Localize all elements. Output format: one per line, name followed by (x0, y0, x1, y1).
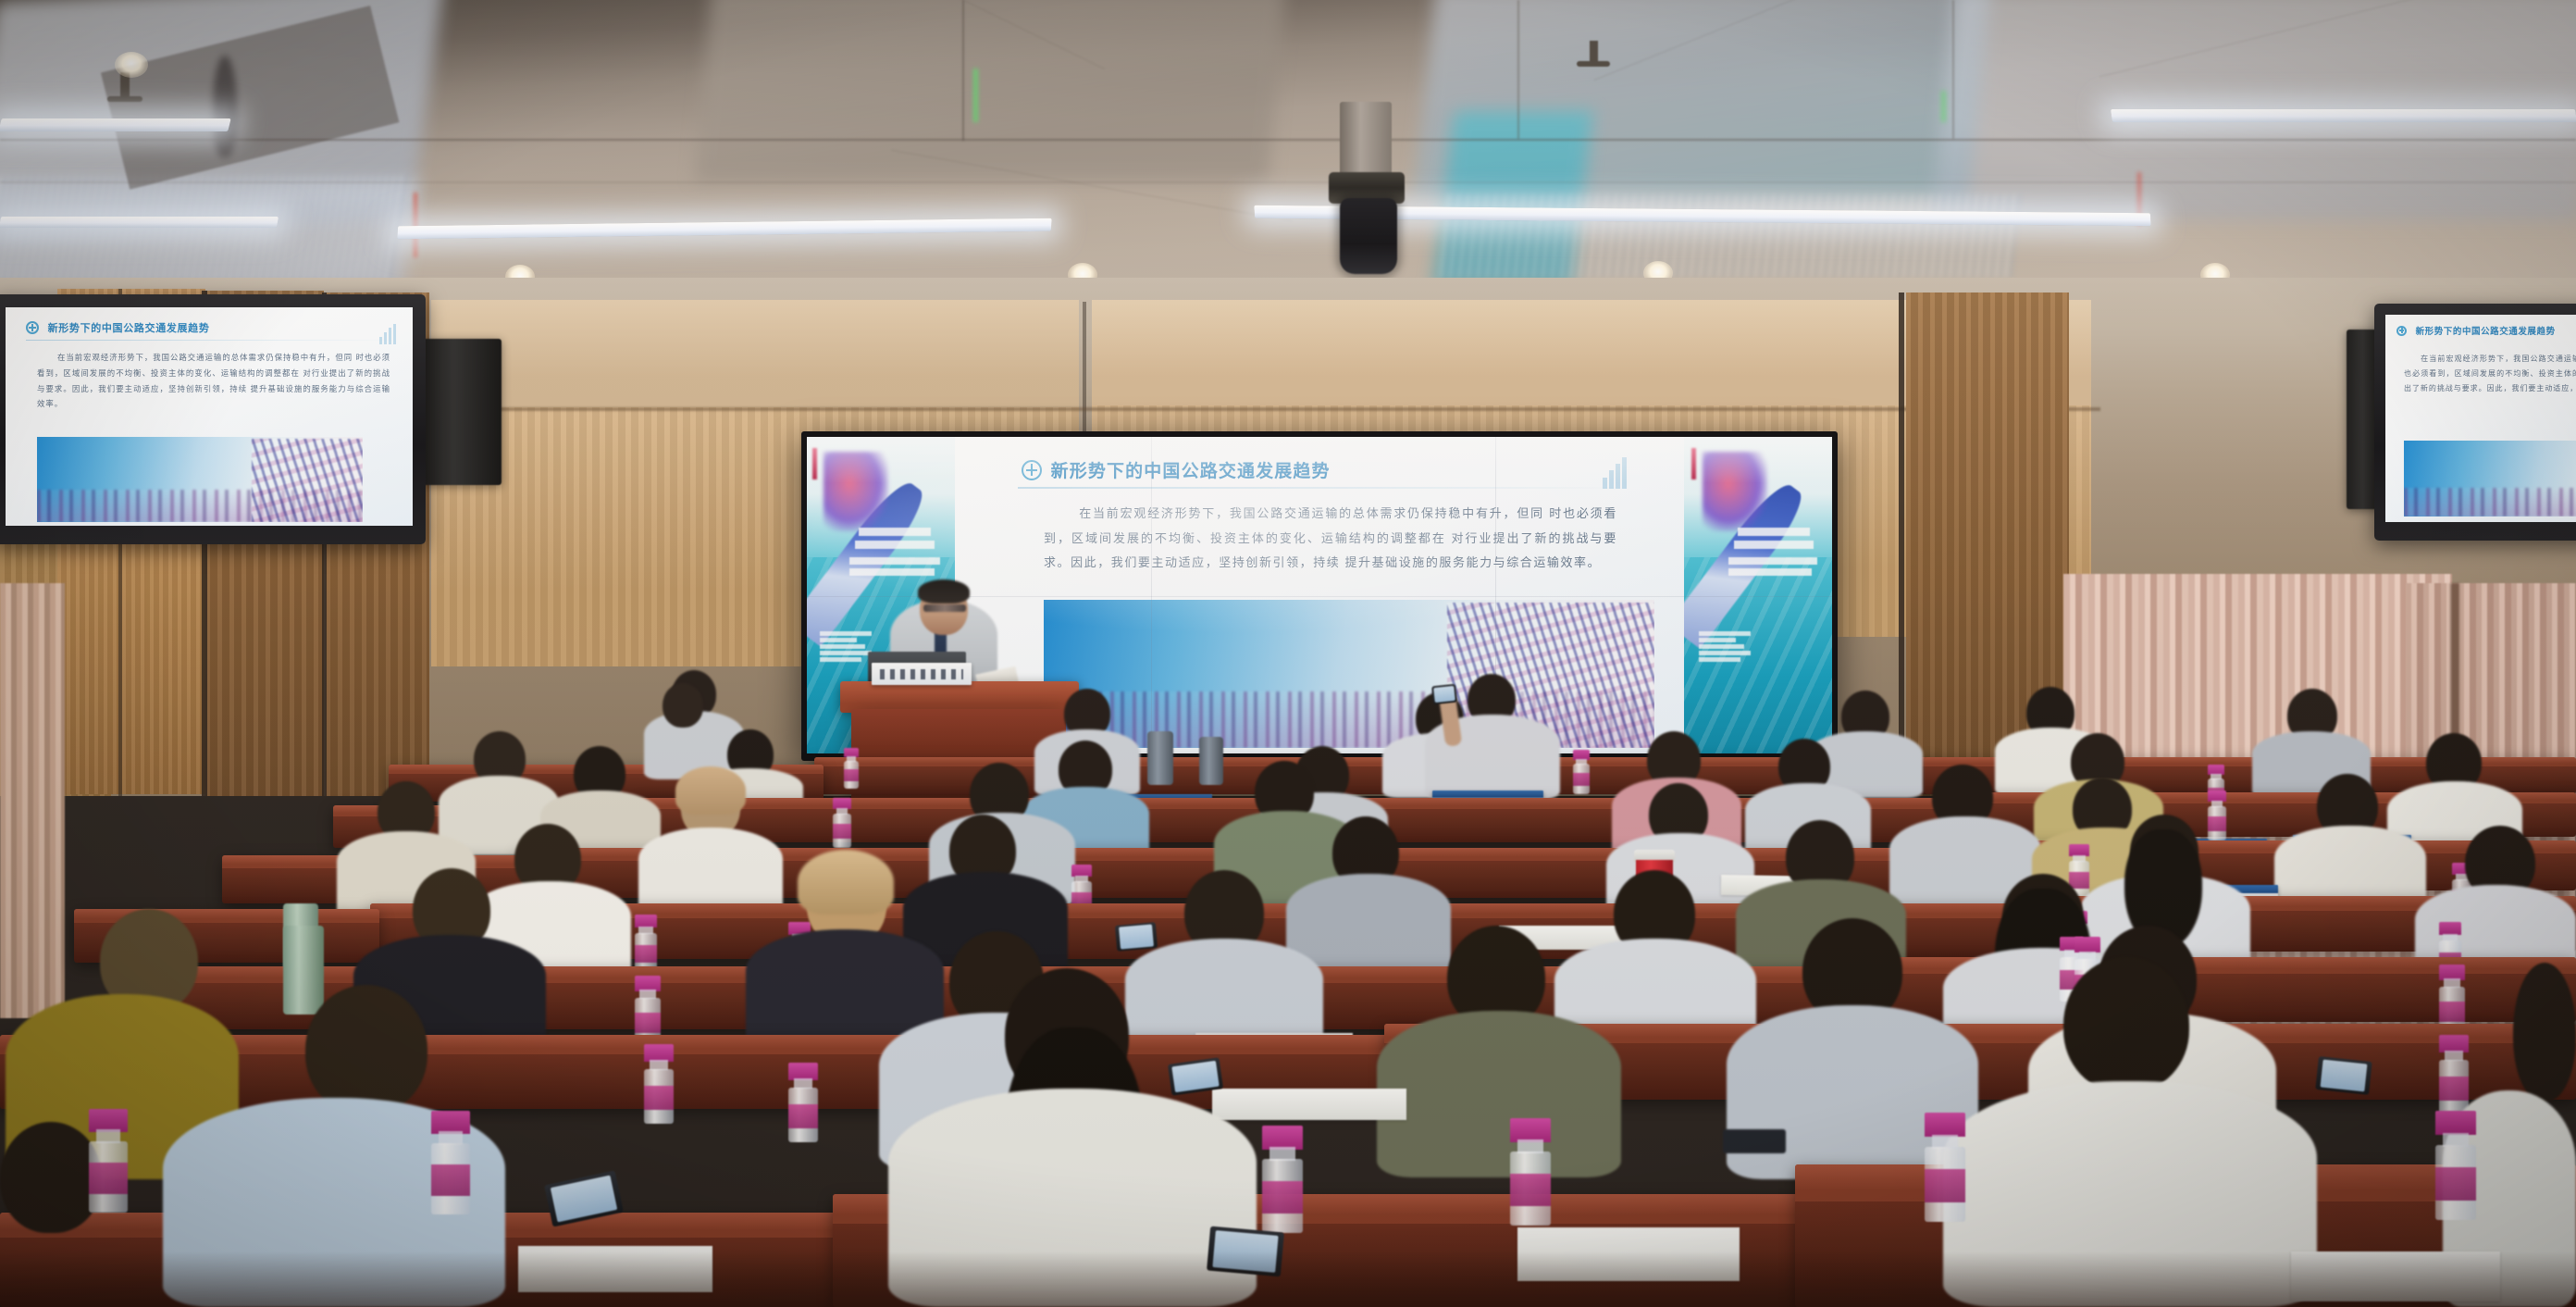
desk-microphone-base-r1 (1723, 1129, 1786, 1153)
curtain-left-sliver (0, 583, 65, 1018)
ceiling-seam-vertical-3 (1952, 0, 1954, 139)
presenter-glasses (923, 604, 966, 612)
bar-chart-icon (1603, 457, 1627, 489)
compass-emblem-icon (2396, 326, 2407, 336)
lectern-top (840, 681, 1079, 713)
ceiling-mounted-projector (1340, 198, 1397, 274)
ceiling-seam-horizontal-2 (0, 181, 2576, 183)
slide-footer-photo (1044, 600, 1654, 748)
wall-monitor-left-screen: 新形势下的中国公路交通发展趋势 在当前宏观经济形势下，我国公路交通运输的总体需求… (6, 307, 413, 526)
banner-footer-text-right (1699, 631, 1751, 662)
slide-body-line-4: 提升基础设施的服务能力与综合运输效率。 (1345, 555, 1602, 569)
slide-photo-cityscape (2404, 488, 2576, 517)
slide-title: 新形势下的中国公路交通发展趋势 (48, 320, 210, 335)
banner-subtitle-right-2 (1728, 568, 1812, 576)
water-bottle-r2-4 (2439, 1035, 2469, 1114)
water-bottle-r7-1 (1573, 750, 1590, 794)
ceiling (0, 0, 2576, 305)
water-bottle-r2-2 (788, 1063, 818, 1142)
banner-subtitle-left-2 (849, 568, 935, 576)
led-tile-seam-1 (1151, 437, 1152, 753)
banner-red-accent-right (1691, 448, 1696, 479)
attendee-blonde-hair-r3-2 (798, 850, 894, 915)
attendee-head-r7-8 (663, 683, 703, 728)
slide-body-line-1: 在当前宏观经济形势下，我国公路交通运输的总体需求仍保持稳中有升，但同 (2421, 355, 2576, 363)
slide-body-line-1: 在当前宏观经济形势下，我国公路交通运输的总体需求仍保持稳中有升，但同 (1079, 506, 1544, 520)
ceiling-light-strip-mid-left (0, 217, 279, 228)
floor-shadow (0, 1251, 2576, 1307)
water-bottle-r1-4 (1510, 1118, 1551, 1226)
slide-photo-bridge (252, 439, 363, 522)
projector-mount-arm (1340, 102, 1392, 176)
ceiling-seam-vertical-2 (1517, 0, 1519, 139)
slide-left-monitor: 新形势下的中国公路交通发展趋势 在当前宏观经济形势下，我国公路交通运输的总体需求… (6, 307, 413, 526)
attendee-head-r1-1 (305, 985, 427, 1114)
smartphone-r4-1[interactable] (1115, 922, 1158, 952)
banner-subtitle-left-1 (849, 557, 940, 565)
water-bottle-r1-3 (1262, 1126, 1303, 1233)
presenter-hair (918, 579, 970, 604)
thermos-flask-r7-2 (1199, 737, 1223, 785)
compass-emblem-icon (1022, 460, 1042, 480)
wall-upper-band-left (431, 300, 1079, 411)
slide-footer-photo (2404, 441, 2576, 517)
attendee-head-r1-5 (0, 1122, 102, 1233)
ceiling-red-indicator-1 (414, 193, 417, 257)
ceiling-light-strip-upper-left (0, 118, 231, 131)
slide-body-line-1: 在当前宏观经济形势下，我国公路交通运输的总体需求仍保持稳中有升，但同 (57, 353, 353, 362)
ceiling-seam-vertical-1 (962, 0, 964, 141)
wall-speaker-left (422, 339, 502, 485)
slide-right-monitor: 新形势下的中国公路交通发展趋势 在当前宏观经济形势下，我国公路交通运输的总体需求… (2385, 315, 2576, 522)
downlight-8 (115, 52, 148, 78)
water-bottle-r2-1 (644, 1044, 674, 1124)
thermos-flask-r2-1 (283, 926, 324, 1014)
slide-title: 新形势下的中国公路交通发展趋势 (2416, 324, 2556, 337)
smartphone-r2-2[interactable] (2315, 1056, 2372, 1095)
banner-graphic-blob-left (824, 452, 888, 531)
attendee-photographer-phone[interactable] (1431, 684, 1457, 705)
slide-title-underline (26, 340, 396, 341)
banner-title-line-right-1 (1738, 528, 1810, 536)
lectern-nameplate (872, 663, 972, 685)
banner-title-line-right-2 (1734, 541, 1814, 549)
ceiling-green-indicator-1 (973, 68, 978, 122)
water-bottle-r1-5 (1925, 1113, 1965, 1222)
wall-panel-seam-4 (1899, 293, 1904, 796)
paper-handout-r2-1 (1212, 1089, 1406, 1120)
attendee-head-r1-3 (2063, 957, 2189, 1092)
compass-emblem-icon (26, 321, 39, 334)
banner-title-line-left-2 (855, 541, 935, 549)
banner-title-line-left-1 (859, 528, 931, 536)
water-bottle-r6-2 (833, 798, 851, 848)
water-bottle-r4-1 (635, 915, 657, 974)
wall-monitor-right-screen: 新形势下的中国公路交通发展趋势 在当前宏观经济形势下，我国公路交通运输的总体需求… (2385, 315, 2576, 522)
slide-footer-photo (37, 437, 363, 522)
water-bottle-r6-1 (2208, 790, 2226, 840)
water-bottle-r7-3 (844, 748, 859, 789)
banner-footer-text-left (820, 631, 872, 662)
bar-chart-icon (379, 324, 396, 344)
conference-hall-photograph: 新形势下的中国公路交通发展趋势 在当前宏观经济形势下，我国公路交通运输的总体需求… (0, 0, 2576, 1307)
ceiling-sprinkler-right-deflector (1577, 61, 1610, 67)
ceiling-green-indicator-2 (1941, 91, 1946, 122)
wall-cove-line (407, 407, 2100, 411)
slide-title: 新形势下的中国公路交通发展趋势 (1051, 457, 1331, 482)
water-bottle-r1-2 (431, 1111, 470, 1214)
banner-subtitle-right-1 (1728, 557, 1817, 565)
ceiling-sprinkler-left-deflector (107, 96, 142, 102)
thermos-flask-r7-1 (1147, 731, 1173, 785)
ceiling-seam-horizontal-1 (0, 139, 2576, 141)
banner-graphic-blob-right (1703, 452, 1767, 531)
wall-monitor-left: 新形势下的中国公路交通发展趋势 在当前宏观经济形势下，我国公路交通运输的总体需求… (0, 294, 426, 544)
ceiling-reflection-center (695, 0, 1285, 181)
attendee-body-r2-3 (1377, 1011, 1621, 1177)
wall-monitor-right: 新形势下的中国公路交通发展趋势 在当前宏观经济形势下，我国公路交通运输的总体需求… (2374, 304, 2576, 541)
water-bottle-r1-6 (2435, 1111, 2476, 1220)
attendee-blonde-hair-r5-2 (675, 766, 746, 815)
conference-banner-right (1684, 437, 1832, 753)
water-bottle-r1-1 (89, 1109, 128, 1213)
ceiling-light-strip-upper-right (2111, 109, 2576, 122)
attendee-head-r1-4 (2513, 963, 2576, 1102)
banner-red-accent-left (812, 448, 817, 479)
slide-title-underline (1018, 487, 1629, 489)
